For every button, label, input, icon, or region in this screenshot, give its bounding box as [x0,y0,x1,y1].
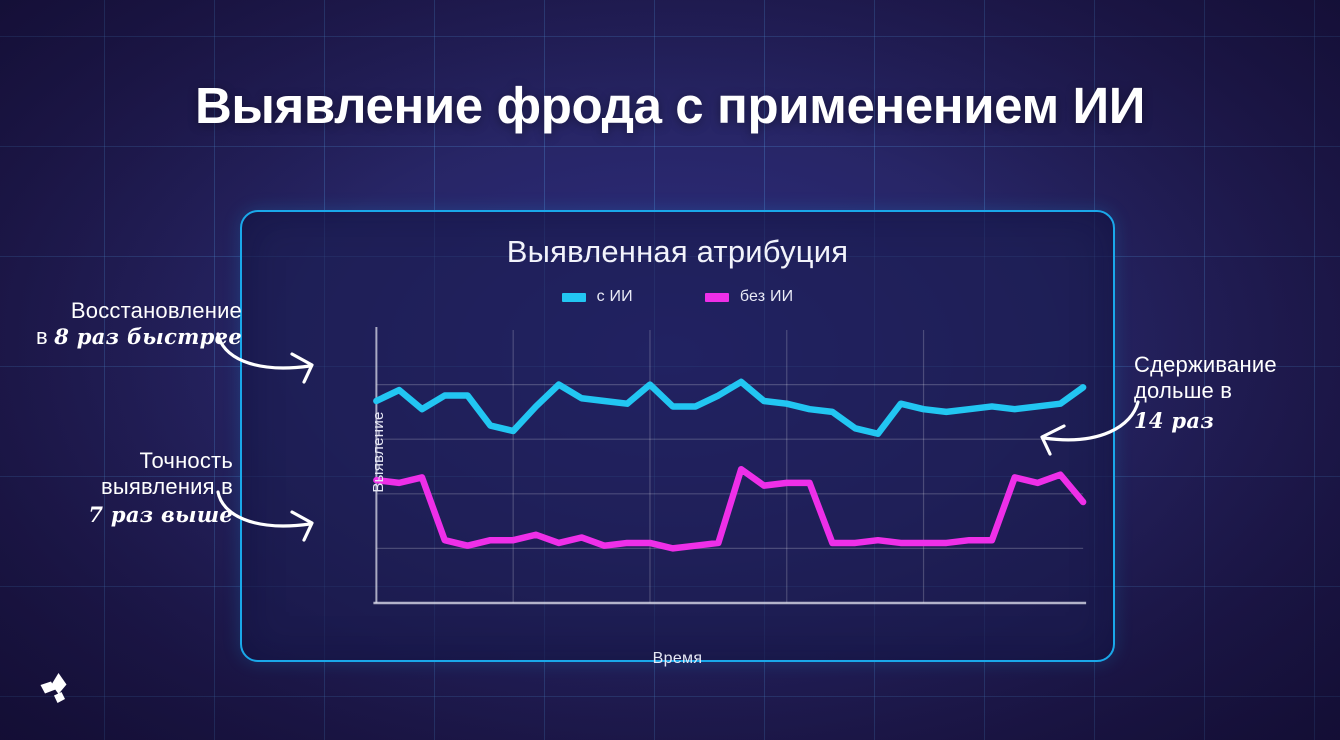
curved-arrow-right-icon [212,330,332,390]
curved-arrow-right-icon [212,488,332,548]
annotation-deterrence: Сдерживание дольше в 14 раз [1134,352,1334,434]
legend-label-ai: с ИИ [597,288,633,306]
x-axis-label: Время [242,650,1113,668]
chart-line-1 [376,469,1083,548]
annotation-deterrence-emphasis: 14 раз [1134,409,1334,434]
annotation-recovery-line2: в 8 раз быстрее [20,324,242,350]
annotation-accuracy-line1: Точность [18,448,233,474]
annotation-deterrence-line1: Сдерживание [1134,352,1334,378]
legend-item-noai[interactable]: без ИИ [705,288,794,306]
chart-axes [373,327,1086,603]
annotation-deterrence-line2: дольше в [1134,378,1334,404]
chart-legend: с ИИ без ИИ [242,288,1113,306]
annotation-recovery: Восстановление в 8 раз быстрее [20,298,242,350]
annotation-accuracy-emphasis: 7 раз выше [18,503,233,528]
chart-line-0 [376,382,1083,434]
annotation-accuracy: Точность выявления в 7 раз выше [18,448,233,528]
page-title: Выявление фрода с применением ИИ [0,76,1340,135]
chart-gridlines [376,330,1083,603]
legend-swatch-ai [562,293,586,302]
y-axis-label-holder: Выявление [346,352,376,552]
annotation-accuracy-line2: выявления в [18,474,233,500]
curved-arrow-left-icon [1030,400,1145,458]
annotation-recovery-line1: Восстановление [20,298,242,324]
legend-swatch-noai [705,293,729,302]
chart-series-layer [376,382,1083,549]
chart-title: Выявленная атрибуция [242,234,1113,270]
butterfly-diamond-logo [38,670,80,712]
annotation-recovery-prefix: в [36,324,54,349]
y-axis-label: Выявление [370,411,387,492]
legend-label-noai: без ИИ [740,288,794,306]
slide-root: Выявление фрода с применением ИИ Выявлен… [0,0,1340,740]
chart-card: Выявленная атрибуция с ИИ без ИИ Время В… [240,210,1115,662]
legend-item-ai[interactable]: с ИИ [562,288,633,306]
